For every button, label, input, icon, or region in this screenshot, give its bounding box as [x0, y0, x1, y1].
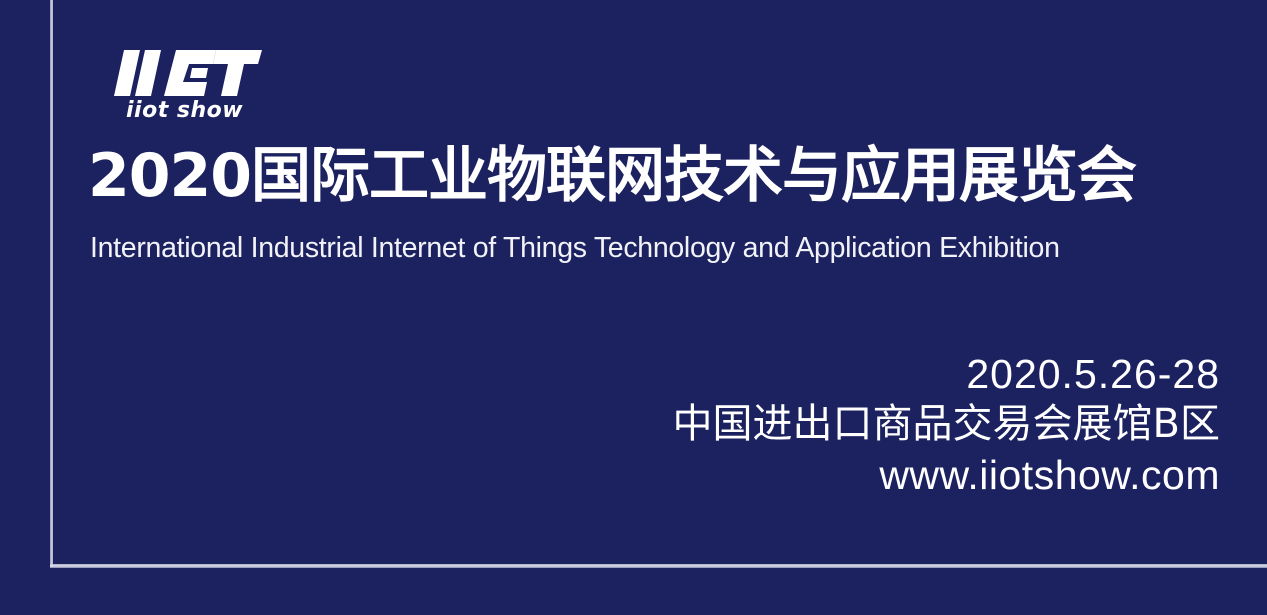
event-date: 2020.5.26-28 [673, 350, 1220, 399]
logo-tagline: iiot show [126, 98, 243, 123]
event-venue: 中国进出口商品交易会展馆B区 [673, 399, 1220, 450]
iiot-logo-icon [112, 44, 262, 104]
page-title: 2020国际工业物联网技术与应用展览会 [88, 141, 1136, 211]
event-website-url[interactable]: www.iiotshow.com [673, 450, 1220, 500]
frame-horizontal-rule [50, 564, 1267, 568]
event-info-block: 2020.5.26-28 中国进出口商品交易会展馆B区 www.iiotshow… [673, 350, 1220, 500]
event-poster: iiot show 2020国际工业物联网技术与应用展览会 Internatio… [0, 0, 1267, 615]
page-subtitle: International Industrial Internet of Thi… [90, 231, 1060, 265]
brand-logo: iiot show [112, 44, 262, 126]
frame-vertical-rule [50, 0, 53, 567]
